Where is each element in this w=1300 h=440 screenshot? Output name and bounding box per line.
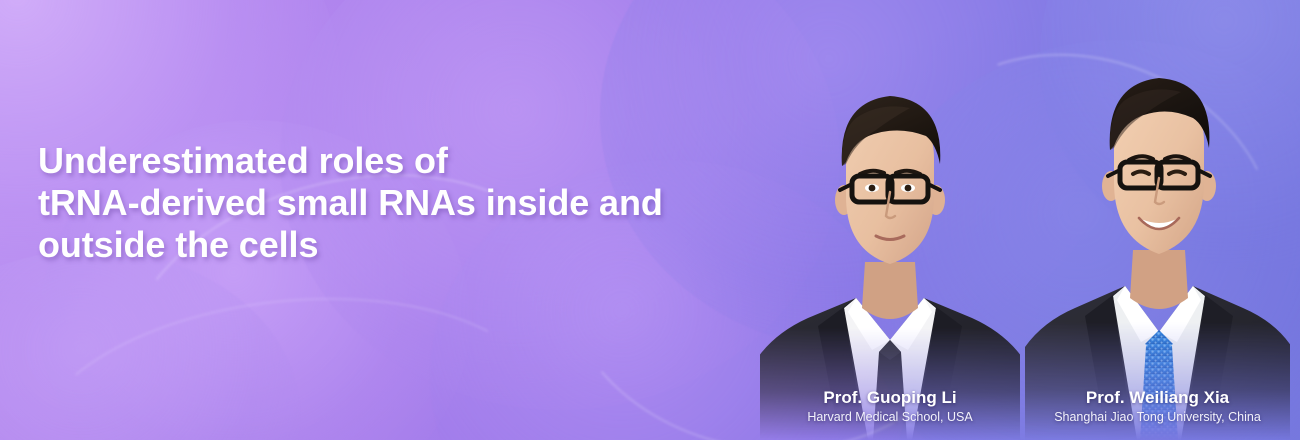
speaker-caption: Prof. Guoping Li Harvard Medical School,… xyxy=(760,387,1020,426)
speaker-card-weiliang-xia: Prof. Weiliang Xia Shanghai Jiao Tong Un… xyxy=(1025,20,1290,440)
title-line-1: Underestimated roles of xyxy=(38,140,768,182)
title-line-3: outside the cells xyxy=(38,224,768,266)
title-line-2: tRNA-derived small RNAs inside and xyxy=(38,182,768,224)
speaker-caption: Prof. Weiliang Xia Shanghai Jiao Tong Un… xyxy=(1025,387,1290,426)
page-title: Underestimated roles of tRNA-derived sma… xyxy=(38,140,768,266)
speaker-photo xyxy=(760,40,1020,440)
portrait-illustration-guoping-li xyxy=(760,40,1020,440)
speaker-card-guoping-li: Prof. Guoping Li Harvard Medical School,… xyxy=(760,40,1020,440)
speaker-photo xyxy=(1025,20,1290,440)
speaker-affiliation: Harvard Medical School, USA xyxy=(760,408,1020,426)
speaker-affiliation: Shanghai Jiao Tong University, China xyxy=(1025,408,1290,426)
portrait-illustration-weiliang-xia xyxy=(1025,20,1290,440)
webinar-banner: Underestimated roles of tRNA-derived sma… xyxy=(0,0,1300,440)
speaker-name: Prof. Weiliang Xia xyxy=(1025,387,1290,408)
speaker-name: Prof. Guoping Li xyxy=(760,387,1020,408)
